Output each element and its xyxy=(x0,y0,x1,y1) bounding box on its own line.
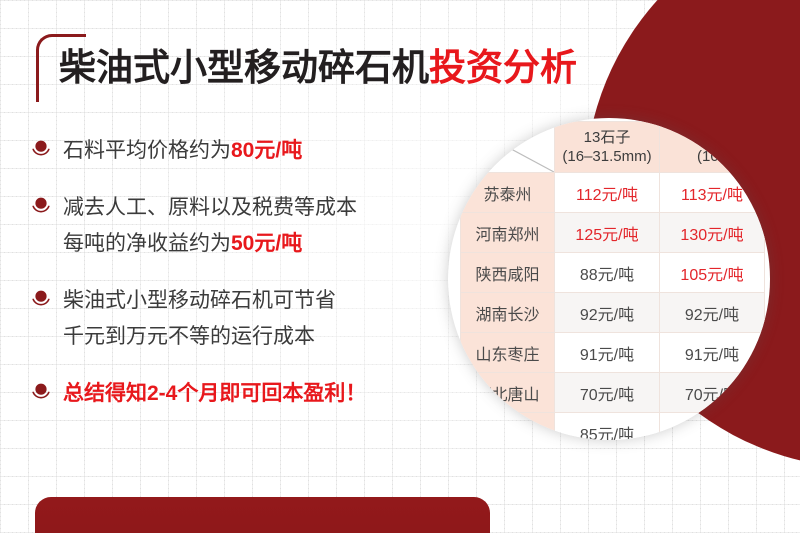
bullet-item: 柴油式小型移动碎石机可节省千元到万元不等的运行成本 xyxy=(30,283,450,355)
table-cell-city: 陕西咸阳 xyxy=(461,253,555,293)
bullet-line: 柴油式小型移动碎石机可节省 xyxy=(63,283,450,319)
bullet-plain-text: 石料平均价格约为 xyxy=(63,139,231,162)
table-row: 陕西咸阳88元/吨105元/吨 xyxy=(461,253,765,293)
bullet-plain-text: 减去人工、原料以及税费等成本 xyxy=(63,196,357,219)
page-title: 柴油式小型移动碎石机投资分析 xyxy=(36,34,577,90)
bullet-plain-text: 柴油式小型移动碎石机可节省 xyxy=(63,289,336,312)
red-dot-smile-icon xyxy=(30,196,52,216)
diagonal-divider-icon xyxy=(461,122,554,172)
bullet-line: 千元到万元不等的运行成本 xyxy=(63,319,450,355)
table-cell-city: 湖南长沙 xyxy=(461,293,555,333)
table-cell-city: 建厦门 xyxy=(461,413,555,441)
bullet-line: 减去人工、原料以及税费等成本 xyxy=(63,190,450,226)
table-cell-price: 130元/吨 xyxy=(660,213,765,253)
magnifier-circle: 13石子 (16–31.5mm) (10– 苏泰州112元/吨113元/吨河南郑… xyxy=(448,118,770,440)
red-dot-smile-icon xyxy=(30,382,52,402)
table-cell-price: 91元/吨 xyxy=(555,333,660,373)
table-cell-price: 112元/吨 xyxy=(555,173,660,213)
table-column-header-2: (10– xyxy=(660,122,765,173)
table-cell-price: 105元/吨 xyxy=(660,253,765,293)
bullet-item: 总结得知2-4个月即可回本盈利！ xyxy=(30,376,450,412)
table-column-header-1: 13石子 (16–31.5mm) xyxy=(555,122,660,173)
bullet-text-block: 总结得知2-4个月即可回本盈利！ xyxy=(63,376,450,412)
bullet-line: 每吨的净收益约为50元/吨 xyxy=(63,226,450,262)
table-cell-city: 河北唐山 xyxy=(461,373,555,413)
bullet-text-block: 柴油式小型移动碎石机可节省千元到万元不等的运行成本 xyxy=(63,283,450,355)
table-cell-city: 河南郑州 xyxy=(461,213,555,253)
title-accent-text: 投资分析 xyxy=(429,47,577,88)
magnifier-content: 13石子 (16–31.5mm) (10– 苏泰州112元/吨113元/吨河南郑… xyxy=(448,118,770,440)
bullet-item: 减去人工、原料以及税费等成本每吨的净收益约为50元/吨 xyxy=(30,190,450,262)
table-row: 河北唐山70元/吨70元/吨 xyxy=(461,373,765,413)
column-header-1-line2: (16–31.5mm) xyxy=(562,148,651,165)
stone-price-table: 13石子 (16–31.5mm) (10– 苏泰州112元/吨113元/吨河南郑… xyxy=(460,121,765,440)
table-cell-price: 92元/吨 xyxy=(555,293,660,333)
bullet-text-block: 减去人工、原料以及税费等成本每吨的净收益约为50元/吨 xyxy=(63,190,450,262)
table-cell-price: 85元/吨 xyxy=(555,413,660,441)
table-cell-price: 88元/吨 xyxy=(555,253,660,293)
bullet-list: 石料平均价格约为80元/吨减去人工、原料以及税费等成本每吨的净收益约为50元/吨… xyxy=(30,133,450,412)
table-cell-city: 山东枣庄 xyxy=(461,333,555,373)
table-cell-price: 91元/吨 xyxy=(660,333,765,373)
title-text: 柴油式小型移动碎石机投资分析 xyxy=(59,46,577,90)
table-header-row: 13石子 (16–31.5mm) (10– xyxy=(461,122,765,173)
table-row: 建厦门85元/吨85元/吨 xyxy=(461,413,765,441)
bullet-highlight-text: 50元/吨 xyxy=(231,232,302,255)
table-cell-price: 70元/吨 xyxy=(660,373,765,413)
table-row: 河南郑州125元/吨130元/吨 xyxy=(461,213,765,253)
poster-canvas: 柴油式小型移动碎石机投资分析 石料平均价格约为80元/吨减去人工、原料以及税费等… xyxy=(0,0,800,533)
table-cell-price: 85元/吨 xyxy=(660,413,765,441)
bullet-plain-text: 总结得知2-4个月即可回本盈利！ xyxy=(63,382,366,405)
bullet-plain-text: 千元到万元不等的运行成本 xyxy=(63,325,315,348)
table-cell-price: 70元/吨 xyxy=(555,373,660,413)
table-body: 苏泰州112元/吨113元/吨河南郑州125元/吨130元/吨陕西咸阳88元/吨… xyxy=(461,173,765,441)
table-cell-city: 苏泰州 xyxy=(461,173,555,213)
column-header-1-line1: 13石子 xyxy=(584,129,631,146)
bullet-item: 石料平均价格约为80元/吨 xyxy=(30,133,450,169)
table-row: 山东枣庄91元/吨91元/吨 xyxy=(461,333,765,373)
bullet-text-block: 石料平均价格约为80元/吨 xyxy=(63,133,450,169)
bottom-red-bar xyxy=(35,497,490,533)
table-cell-price: 125元/吨 xyxy=(555,213,660,253)
table-cell-price: 92元/吨 xyxy=(660,293,765,333)
table-cell-price: 113元/吨 xyxy=(660,173,765,213)
red-dot-smile-icon xyxy=(30,289,52,309)
bullet-highlight-text: 80元/吨 xyxy=(231,139,302,162)
column-header-2-line2: (10– xyxy=(697,148,727,165)
red-dot-smile-icon xyxy=(30,139,52,159)
title-main-text: 柴油式小型移动碎石机 xyxy=(59,47,429,88)
bullet-line: 总结得知2-4个月即可回本盈利！ xyxy=(63,376,450,412)
table-row: 湖南长沙92元/吨92元/吨 xyxy=(461,293,765,333)
bullet-plain-text: 每吨的净收益约为 xyxy=(63,232,231,255)
table-row: 苏泰州112元/吨113元/吨 xyxy=(461,173,765,213)
table-header: 13石子 (16–31.5mm) (10– xyxy=(461,122,765,173)
bullet-line: 石料平均价格约为80元/吨 xyxy=(63,133,450,169)
table-corner-cell xyxy=(461,122,555,173)
